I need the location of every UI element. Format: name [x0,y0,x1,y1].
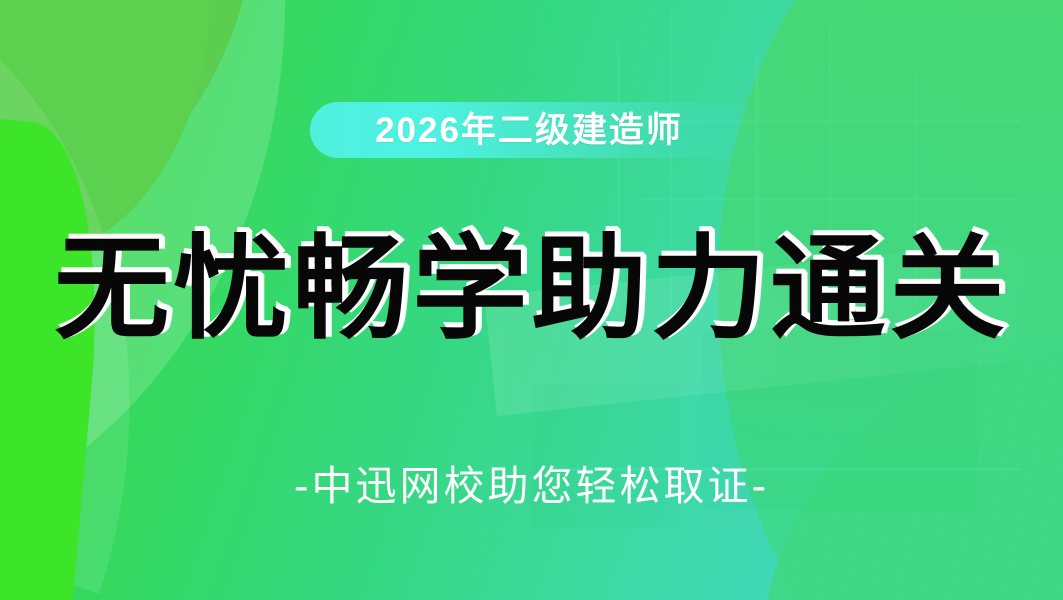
course-badge: 2026年二级建造师 [310,102,762,158]
promo-poster: 2026年二级建造师 无忧畅学助力通关 -中迅网校助您轻松取证- [0,0,1063,600]
poster-content: 2026年二级建造师 无忧畅学助力通关 -中迅网校助您轻松取证- [0,0,1063,600]
subtitle-tagline: -中迅网校助您轻松取证- [0,462,1063,511]
course-badge-label: 2026年二级建造师 [375,113,683,148]
headline-title: 无忧畅学助力通关 [0,228,1063,350]
